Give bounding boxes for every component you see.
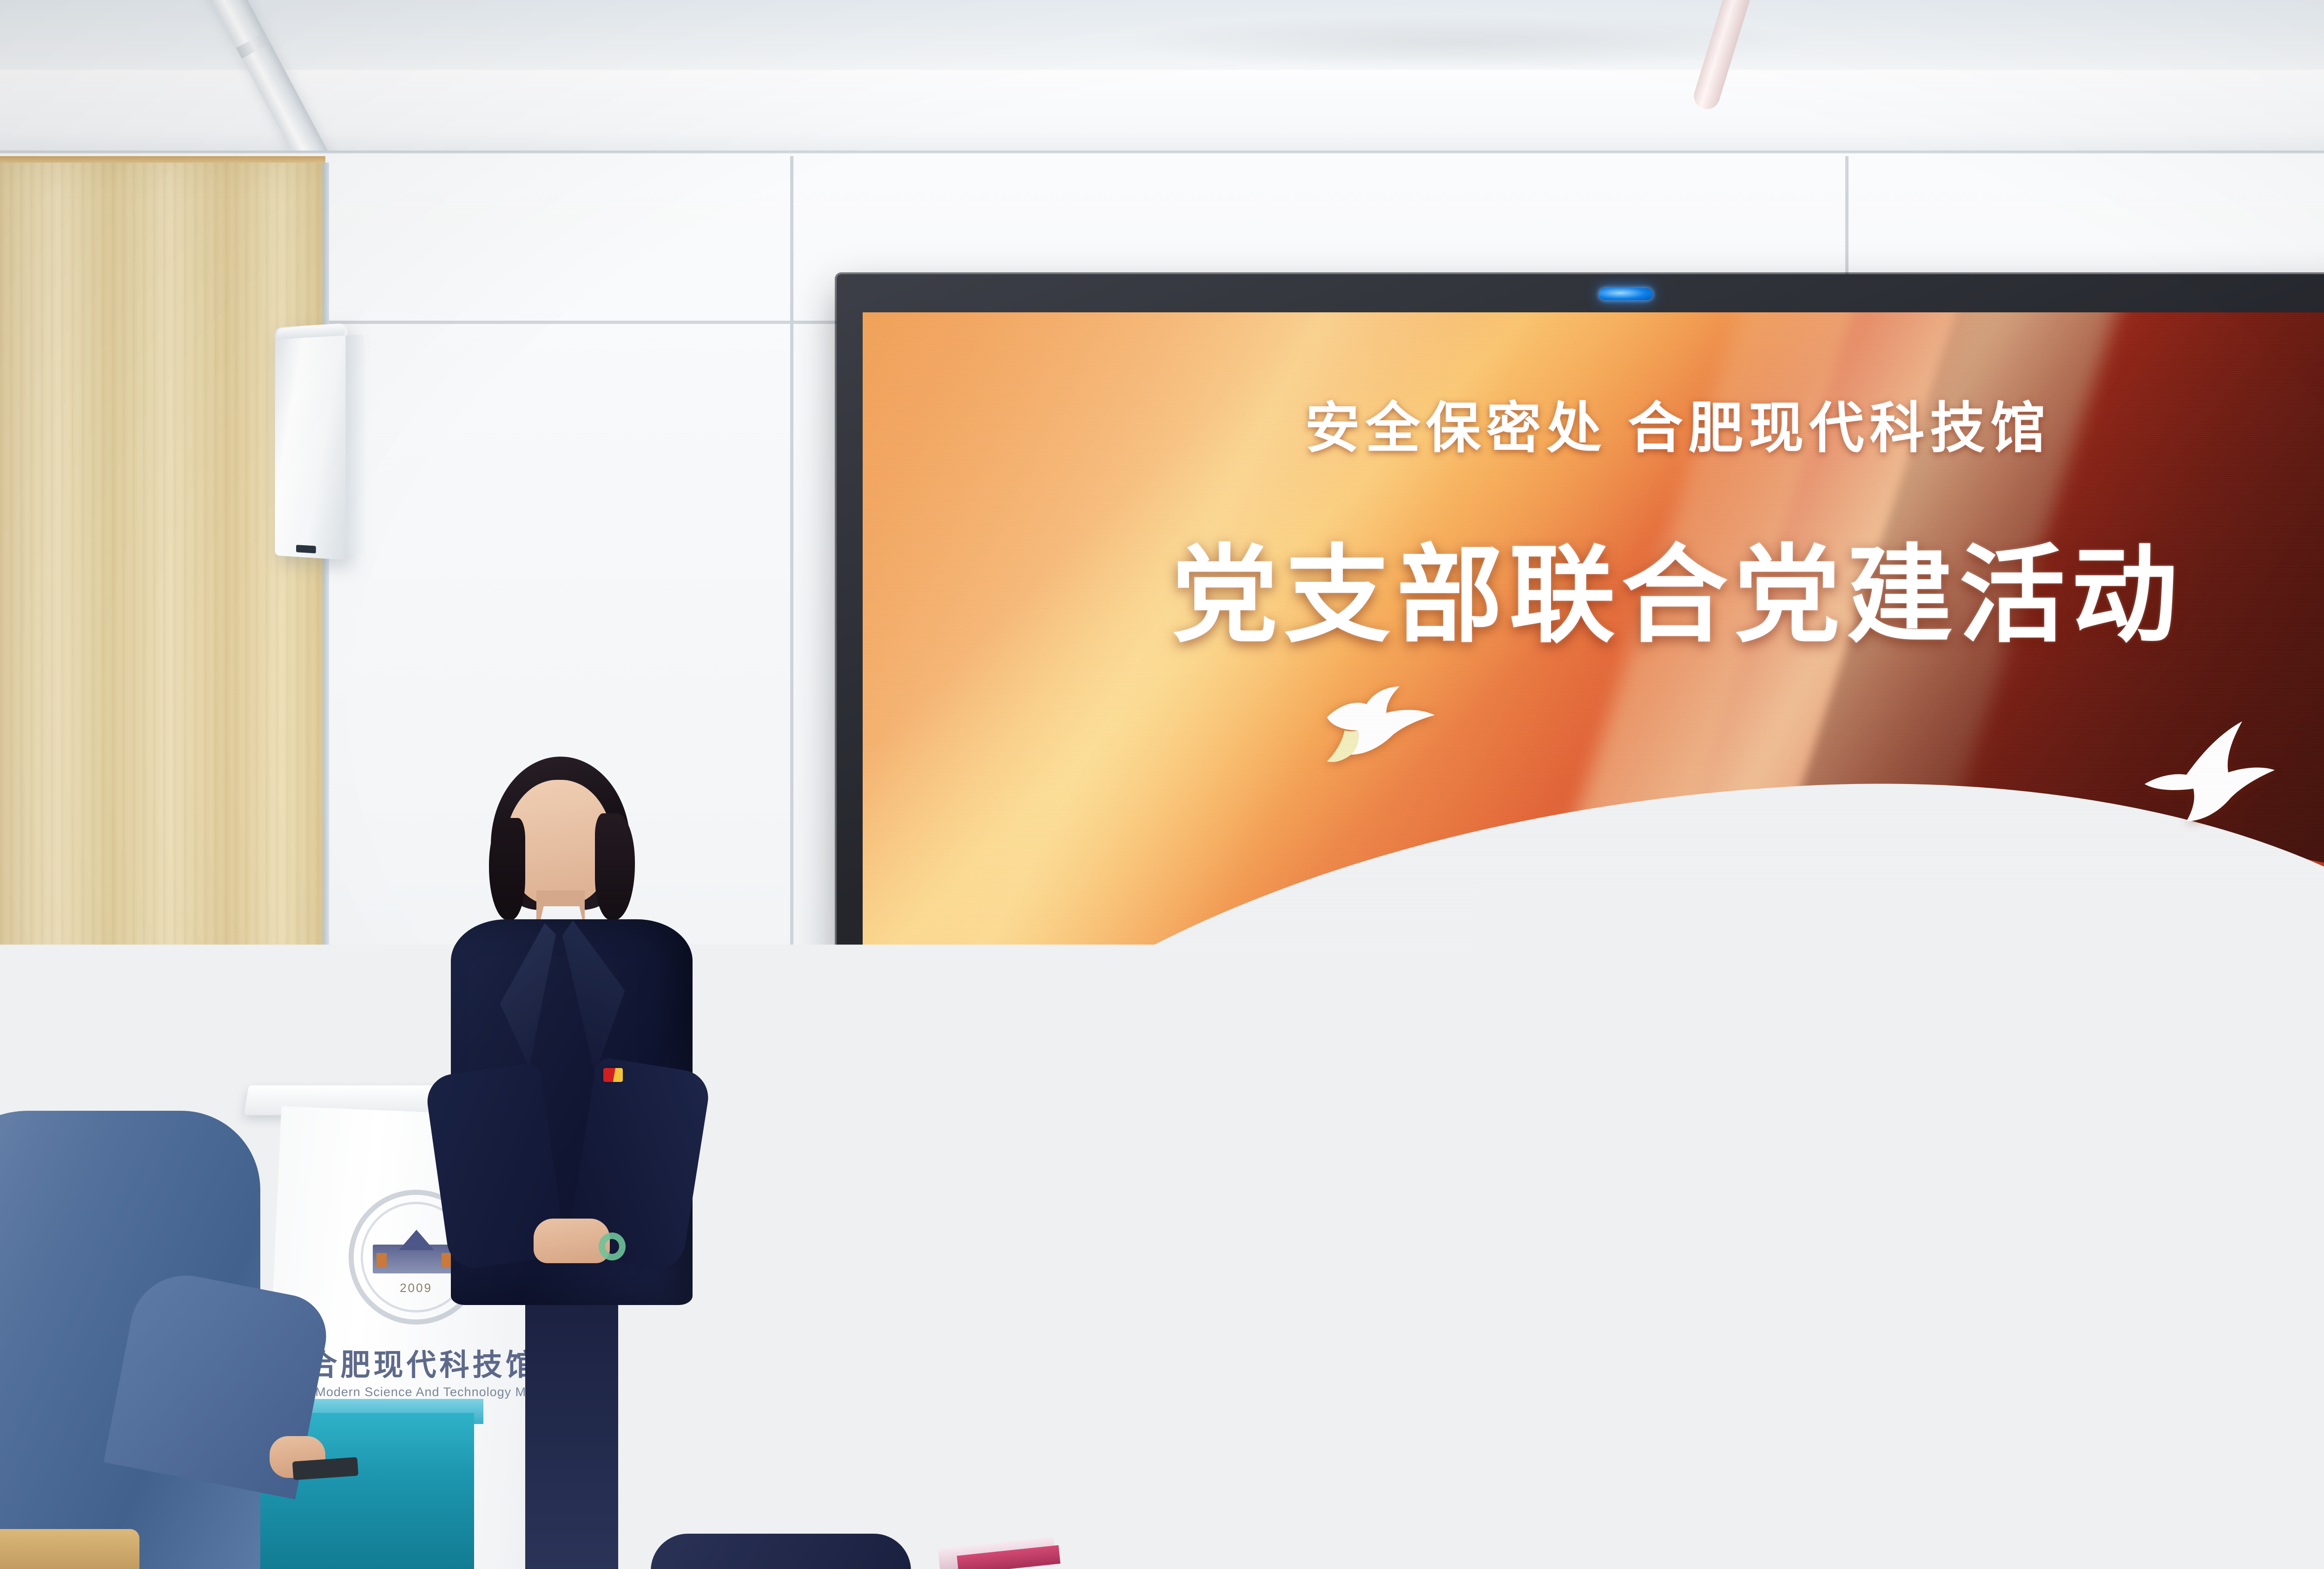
- ceiling-soffit: [0, 70, 2324, 158]
- interactive-display[interactable]: 安全保密处 合肥现代科技馆 党支部联合党建活动 地点： 合肥现代科技馆 时间： …: [837, 274, 2324, 1250]
- center-man-chair: [1515, 1501, 1627, 1569]
- slide-organizations: 安全保密处 合肥现代科技馆: [863, 383, 2324, 463]
- eyeglasses-icon-left-man: [87, 1056, 136, 1082]
- slide-meta-block: 地点： 合肥现代科技馆 时间： 2025年10月30日: [1034, 965, 1431, 1084]
- wood-panel-edge: [323, 163, 329, 1120]
- sensor-3-icon: [2281, 1178, 2289, 1182]
- brand-name-main: MAXHUB: [894, 1175, 995, 1195]
- dash-indicator-icon: [2231, 1178, 2238, 1182]
- slide-time-line: 时间： 2025年10月30日: [1034, 1024, 1431, 1083]
- speaker-brand-badge: [296, 545, 316, 553]
- presenter-hair-right: [595, 813, 635, 920]
- right-woman-curl-right: [1827, 1190, 1915, 1301]
- thermos-cup-seam: [1151, 1464, 1153, 1496]
- brand-name-sub: QSTECH: [894, 1197, 995, 1204]
- table-mid-right: [2101, 1506, 2324, 1569]
- pipe-coupling: [236, 33, 271, 59]
- dove-icon-mid-left: [1318, 684, 1439, 772]
- power-led-indicator: [1599, 288, 1653, 300]
- presentation-slide: 安全保密处 合肥现代科技馆 党支部联合党建活动 地点： 合肥现代科技馆 时间： …: [863, 312, 2324, 1151]
- wall-panel-seam-v1: [790, 156, 793, 1411]
- display-indicator-row: [2214, 1178, 2305, 1182]
- sensor-2-icon: [2265, 1178, 2272, 1182]
- sensor-1-icon: [2248, 1178, 2255, 1182]
- tissue-box-accent: [377, 1069, 399, 1085]
- display-brand-logo: MAXHUB QSTECH: [888, 1172, 1002, 1206]
- party-emblem-pin-icon: [603, 1068, 623, 1082]
- presenter-hands: [534, 1219, 610, 1263]
- speaker-side: [345, 334, 364, 554]
- speaker-top-cap: [277, 324, 344, 339]
- wood-wall-panel: [0, 163, 325, 1120]
- thermos-cup: [1104, 1417, 1188, 1569]
- center-man-ear: [1228, 1236, 1257, 1278]
- jade-bracelet: [599, 1233, 626, 1260]
- right-woman-curl-left: [1613, 1208, 1687, 1301]
- ponytail-scrunchie: [674, 1390, 734, 1441]
- dove-icon-mid-right: [2140, 712, 2279, 824]
- slide-location-line: 地点： 合肥现代科技馆: [1034, 965, 1431, 1024]
- right-woman-coat-seam: [1706, 1404, 1710, 1569]
- front-woman-ponytail: [613, 1419, 712, 1569]
- left-man-chair: [0, 1529, 139, 1569]
- meeting-room-photo: 安全保密处 合肥现代科技馆 党支部联合党建活动 地点： 合肥现代科技馆 时间： …: [0, 0, 2324, 1569]
- presenter-lower-body: [525, 1287, 618, 1569]
- display-model-label: [2315, 1174, 2324, 1186]
- emblem-accent-left: [376, 1253, 387, 1267]
- display-screen[interactable]: 安全保密处 合肥现代科技馆 党支部联合党建活动 地点： 合肥现代科技馆 时间： …: [863, 312, 2324, 1151]
- wall-speaker: [275, 323, 348, 560]
- laptop[interactable]: [1464, 1148, 1576, 1246]
- ir-receiver-icon: [2298, 1178, 2305, 1182]
- presenter-hair-left: [489, 818, 525, 920]
- slide-main-title: 党支部联合党建活动: [863, 509, 2324, 663]
- power-indicator-icon: [2214, 1178, 2222, 1182]
